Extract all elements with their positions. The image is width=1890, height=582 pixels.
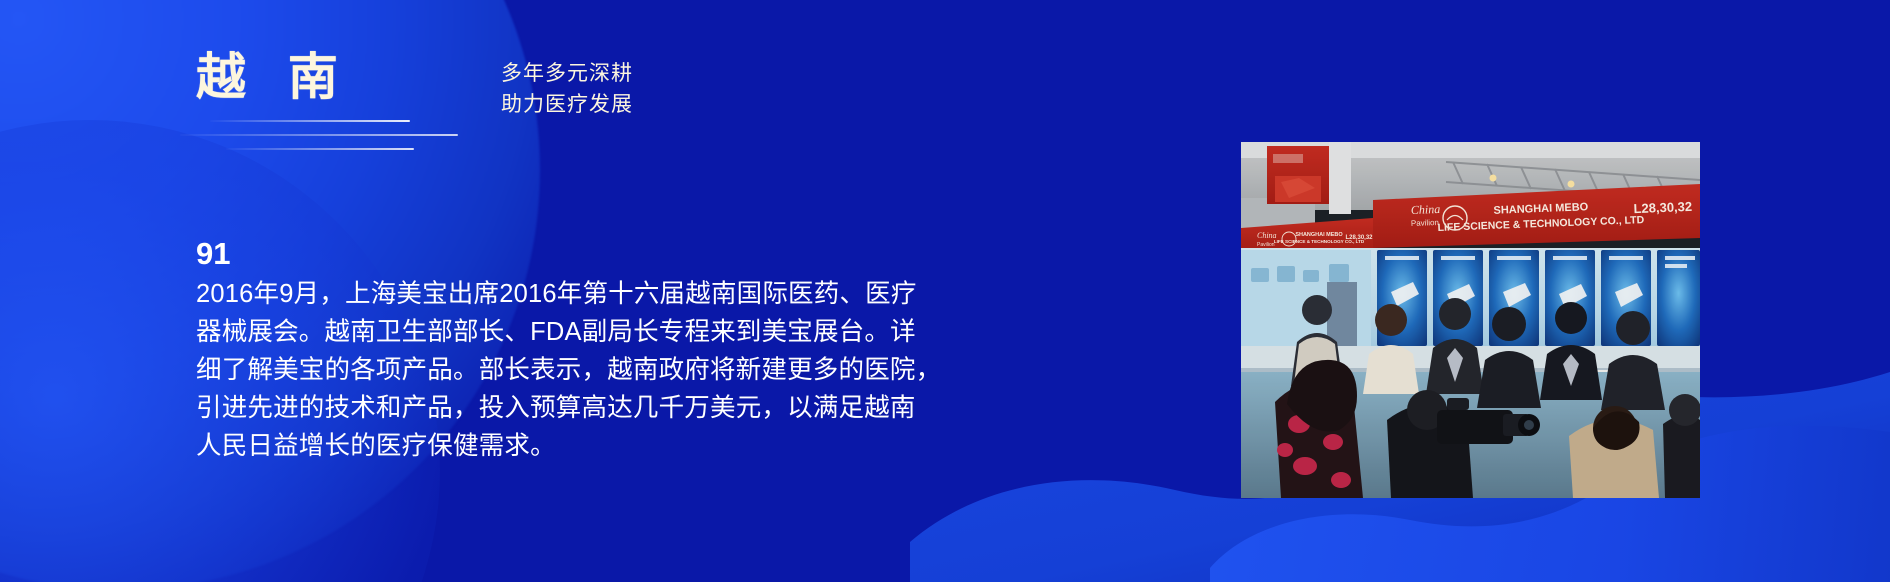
paragraph-line: 人民日益增长的医疗保健需求。 bbox=[196, 427, 1126, 465]
subtitle: 多年多元深耕 助力医疗发展 bbox=[501, 58, 633, 120]
subtitle-line-2: 助力医疗发展 bbox=[501, 89, 633, 120]
header: 越 南 多年多元深耕 助力医疗发展 bbox=[196, 44, 1096, 154]
paragraph-line: 引进先进的技术和产品，投入预算高达几千万美元，以满足越南 bbox=[196, 389, 1126, 427]
subtitle-line-1: 多年多元深耕 bbox=[501, 58, 633, 89]
underline-line-2 bbox=[180, 134, 458, 136]
slide-root: 越 南 多年多元深耕 助力医疗发展 91 2016年9月，上海美宝出席2016年… bbox=[0, 0, 1890, 582]
paragraph-line: 2016年9月，上海美宝出席2016年第十六届越南国际医药、医疗 bbox=[196, 275, 1126, 313]
entry-number: 91 bbox=[196, 238, 1126, 271]
paragraph-line: 器械展会。越南卫生部部长、FDA副局长专程来到美宝展台。详 bbox=[196, 313, 1126, 351]
paragraph-line: 细了解美宝的各项产品。部长表示，越南政府将新建更多的医院， bbox=[196, 351, 1126, 389]
content-block: 91 2016年9月，上海美宝出席2016年第十六届越南国际医药、医疗 器械展会… bbox=[196, 238, 1126, 465]
underline-line-3 bbox=[226, 148, 414, 150]
title-underline-decoration bbox=[158, 120, 488, 168]
underline-line-1 bbox=[210, 120, 410, 122]
page-title: 越 南 bbox=[196, 52, 352, 102]
body-paragraph: 2016年9月，上海美宝出席2016年第十六届越南国际医药、医疗 器械展会。越南… bbox=[196, 275, 1126, 465]
exhibition-photo: SHANGHAI MEBO LIFE SCIENCE & TECHNOLOGY … bbox=[1241, 142, 1700, 498]
